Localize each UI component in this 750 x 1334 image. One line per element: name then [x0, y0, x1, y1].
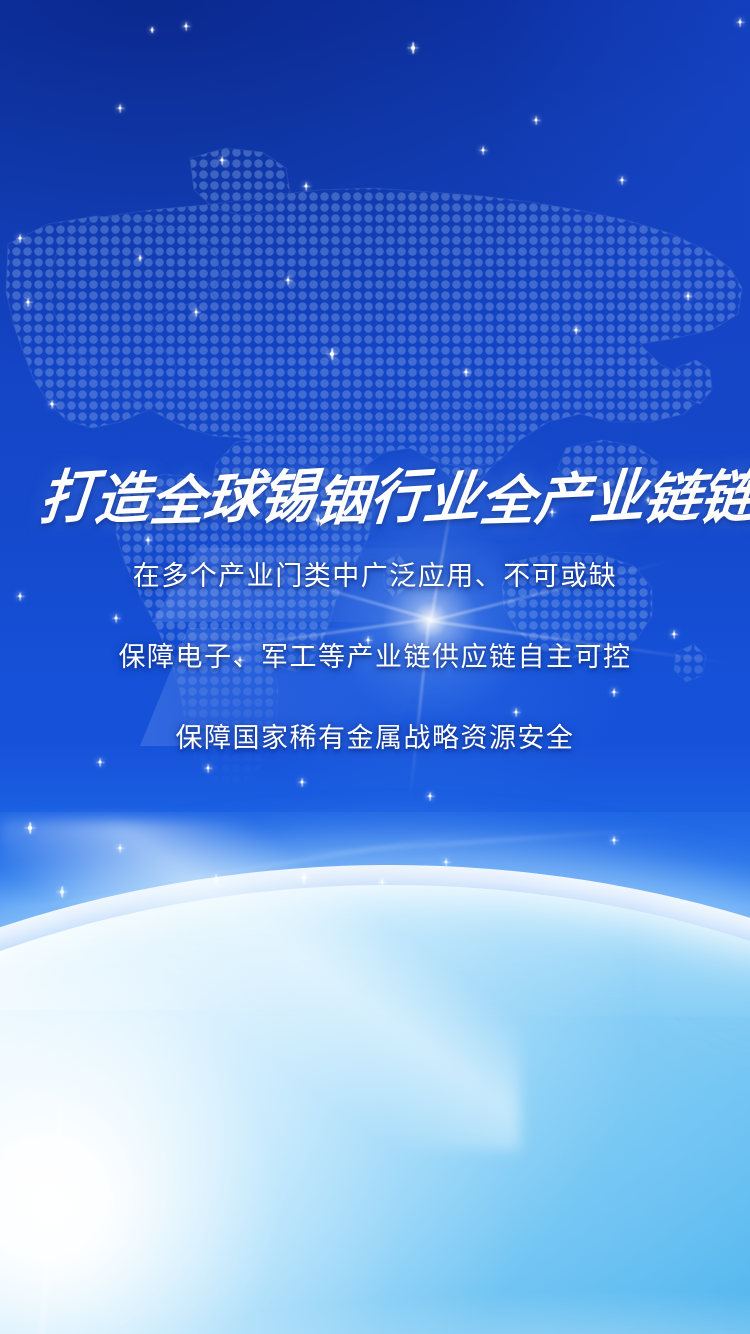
poster-headline: 打 造 全 球 锡 铟 行 业 全 产 业 链 链 主	[40, 457, 720, 541]
sparkle	[482, 149, 485, 152]
sparkle	[27, 301, 30, 304]
sparkle	[687, 295, 690, 298]
sparkle	[613, 839, 616, 842]
sparkle	[115, 617, 118, 620]
headline-char: 全	[478, 473, 537, 528]
sparkle	[221, 159, 224, 162]
earth-globe	[0, 885, 750, 1334]
sparkle	[51, 403, 54, 406]
headline-char: 全	[148, 473, 207, 528]
earth-cloud-layer	[0, 885, 750, 1334]
sparkle	[305, 185, 308, 188]
sparkle	[195, 311, 198, 314]
headline-char: 产	[533, 470, 593, 527]
sparkle	[287, 279, 290, 282]
sparkle	[28, 826, 32, 830]
subtitle-line-3: 保障国家稀有金属战略资源安全	[0, 725, 750, 752]
sparkle	[535, 119, 538, 122]
sparkle	[301, 781, 304, 784]
sparkle	[673, 633, 676, 636]
sparkle	[151, 29, 153, 31]
headline-char: 业	[587, 466, 648, 528]
headline-char: 链	[640, 468, 705, 527]
sparkle	[575, 329, 578, 332]
subtitle-line-2: 保障电子、军工等产业链供应链自主可控	[0, 644, 750, 671]
sparkle	[465, 371, 468, 374]
headline-char: 打	[37, 466, 98, 528]
sparkle	[330, 352, 334, 356]
sparkle	[119, 847, 122, 850]
headline-char: 业	[420, 468, 485, 527]
sparkle	[621, 179, 624, 182]
headline-char: 造	[93, 470, 153, 527]
sparkle	[19, 237, 22, 240]
sparkle	[19, 595, 22, 598]
sparkle	[214, 878, 218, 882]
headline-char: 球	[200, 468, 265, 527]
sparkle	[119, 107, 122, 110]
sparkle	[411, 46, 415, 50]
sparkle	[207, 767, 210, 770]
sparkle	[381, 881, 384, 884]
headline-char: 行	[367, 466, 428, 528]
sparkle	[445, 861, 448, 864]
sparkle	[139, 257, 141, 259]
headline-char: 铟	[313, 473, 372, 528]
sparkle	[185, 25, 188, 28]
world-map	[0, 92, 750, 812]
sparkle	[302, 876, 306, 880]
sparkle	[613, 691, 616, 694]
headline-char: 链	[697, 466, 750, 528]
poster-canvas: 打 造 全 球 锡 铟 行 业 全 产 业 链 链 主 在多个产业门类中广泛应用…	[0, 0, 750, 1334]
sparkle	[99, 761, 102, 764]
sparkle	[739, 21, 742, 24]
sparkle	[515, 711, 518, 714]
subtitle-line-1: 在多个产业门类中广泛应用、不可或缺	[0, 563, 750, 590]
headline-char: 锡	[257, 466, 318, 528]
sparkle	[429, 795, 432, 798]
